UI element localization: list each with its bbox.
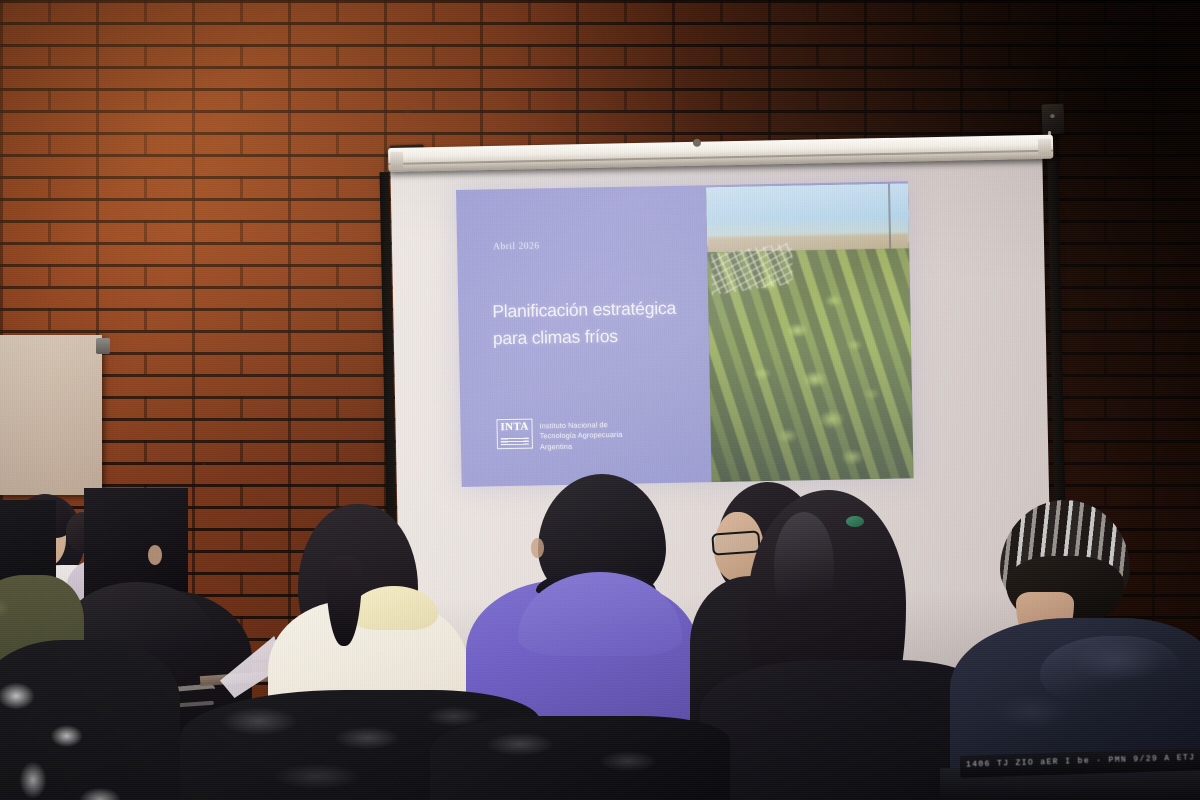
- roller-cap-right: [1038, 139, 1051, 155]
- slide-date: Abril 2026: [493, 241, 540, 252]
- slide-photo-crop-field: [706, 183, 914, 482]
- inta-logo: INTA Instituto Nacional de Tecnología Ag…: [496, 417, 622, 453]
- roller-cap-left: [390, 152, 403, 168]
- roller-center-pin: [693, 139, 701, 147]
- photo-dim-overlay: [706, 183, 914, 482]
- panel-clip: [96, 338, 110, 354]
- inta-org-line-3: Argentina: [540, 441, 623, 453]
- audience-person-5-ear: [531, 538, 544, 558]
- audience-person-7-hair-highlight: [774, 512, 834, 632]
- projected-slide: Abril 2026 Planificación estratégica par…: [456, 181, 914, 487]
- chair-strap-printed-text: 1406 TJ ZIO aER I be · PMN 9/29 A ETJ SC…: [966, 752, 1200, 769]
- slide-title: Planificación estratégica para climas fr…: [492, 294, 708, 351]
- audience-person-3-ear: [148, 545, 162, 565]
- inta-logo-letters: INTA: [499, 422, 529, 434]
- audience-person-7-hair-tie: [846, 516, 864, 527]
- audience-person-8-hood-seam: [1040, 636, 1180, 700]
- presentation-room-photo: Abril 2026 Planificación estratégica par…: [0, 0, 1200, 800]
- inta-logo-text: Instituto Nacional de Tecnología Agropec…: [539, 417, 622, 453]
- inta-logo-bars: [501, 438, 529, 446]
- screen-mount-bracket-right: [1041, 104, 1064, 135]
- audience-person-1-body: [0, 640, 180, 800]
- black-puffer-jacket-foreground-2: [430, 716, 730, 800]
- eyeglasses-icon: [711, 530, 760, 555]
- inta-org-line-2: Tecnología Agropecuaria: [540, 430, 623, 442]
- slide-title-line-1: Planificación estratégica: [492, 294, 707, 325]
- inta-logo-mark: INTA: [496, 419, 533, 450]
- slide-title-line-2: para climas fríos: [493, 321, 708, 352]
- left-wall-panel: [0, 335, 102, 495]
